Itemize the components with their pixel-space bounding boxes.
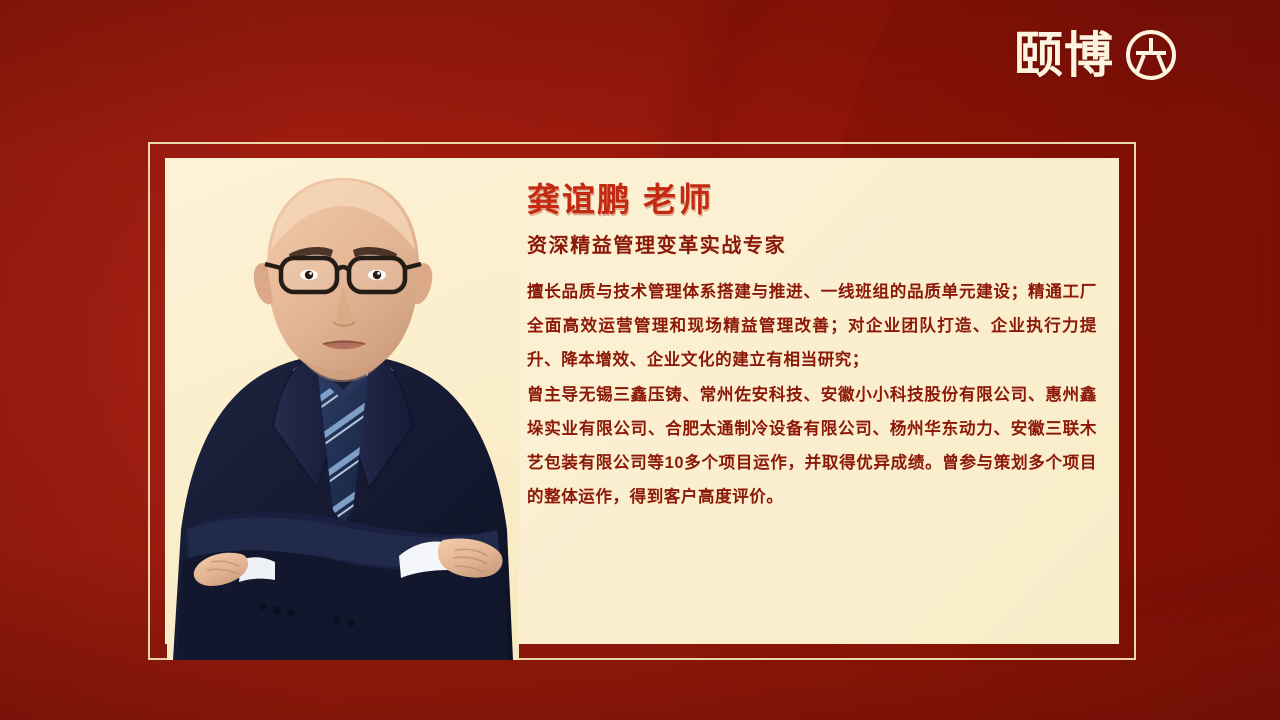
speaker-subtitle: 资深精益管理变革实战专家 [527,234,1097,259]
speaker-photo [167,158,519,660]
page-title: 龚谊鹏 老师 [527,180,1097,220]
speaker-bio-paragraph-1: 擅长品质与技术管理体系搭建与推进、一线班组的品质单元建设；精通工厂全面高效运营管… [527,275,1097,378]
speaker-intro-slide: 颐博 [0,0,1280,720]
speaker-portrait-illustration [167,158,519,660]
circle-wheel-icon [1126,30,1176,80]
speaker-info-column: 龚谊鹏 老师 资深精益管理变革实战专家 擅长品质与技术管理体系搭建与推进、一线班… [527,180,1097,515]
brand-logo: 颐博 [1014,30,1176,80]
brand-logo-text: 颐博 [1014,31,1114,80]
speaker-bio-paragraph-2: 曾主导无锡三鑫压铸、常州佐安科技、安徽小小科技股份有限公司、惠州鑫垛实业有限公司… [527,378,1097,515]
